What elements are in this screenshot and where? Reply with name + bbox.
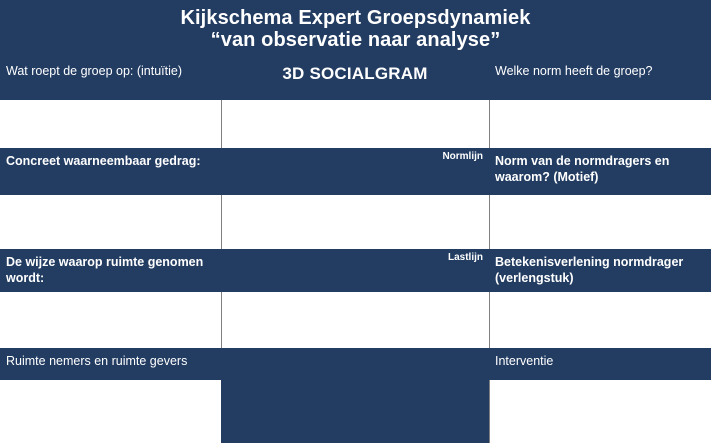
row-4-left-input-area[interactable] [0,380,221,443]
row-4-right-input-area[interactable] [490,380,711,443]
row-3-right-label: Betekenisverlening normdrager (verlengst… [495,254,705,286]
row-3-left-input-area[interactable] [0,292,221,348]
page-title-line-2: “van observatie naar analyse” [211,29,501,51]
row-2-center-header: Normlijn [221,148,489,195]
row-4-left-header: Ruimte nemers en ruimte gevers [0,348,221,380]
page-title-line-1: Kijkschema Expert Groepsdynamiek [180,7,530,29]
row-4-right-header: Interventie [489,348,711,380]
row-4-center-socialgram-area[interactable] [221,380,489,443]
row-1-left-header: Wat roept de groep op: (intuïtie) [0,58,221,100]
row-2-center-input-area[interactable] [222,195,489,249]
row-1-center-input-area[interactable] [222,100,489,148]
normlijn-tag: Normlijn [442,151,483,162]
row-1-right-label: Welke norm heeft de groep? [495,63,705,79]
row-4-right-label: Interventie [495,353,705,369]
row-3-center-input-area[interactable] [222,292,489,348]
row-1-right-header: Welke norm heeft de groep? [489,58,711,100]
row-1-right-input-area[interactable] [490,100,711,148]
row-2-right-input-area[interactable] [490,195,711,249]
row-2-left-input-area[interactable] [0,195,221,249]
row-3-right-input-area[interactable] [490,292,711,348]
row-2-left-header: Concreet waarneembaar gedrag: [0,148,221,195]
row-4-left-label: Ruimte nemers en ruimte gevers [6,353,215,369]
row-1-center-header: 3D SOCIALGRAM [221,58,489,100]
row-4-center-header [221,348,489,380]
row-3-left-label: De wijze waarop ruimte genomen wordt: [6,254,215,286]
socialgram-heading: 3D SOCIALGRAM [221,64,489,84]
row-2-left-label: Concreet waarneembaar gedrag: [6,153,215,169]
lastlijn-tag: Lastlijn [448,252,483,263]
row-1-left-input-area[interactable] [0,100,221,148]
row-1-left-label: Wat roept de groep op: (intuïtie) [6,63,215,79]
row-3-center-header: Lastlijn [221,249,489,292]
row-2-right-header: Norm van de normdragers en waarom? (Moti… [489,148,711,195]
row-3-right-header: Betekenisverlening normdrager (verlengst… [489,249,711,292]
document-title-band: Kijkschema Expert Groepsdynamiek “van ob… [0,0,711,58]
kijkschema-worksheet: Kijkschema Expert Groepsdynamiek “van ob… [0,0,711,443]
row-2-right-label: Norm van de normdragers en waarom? (Moti… [495,153,705,185]
row-3-left-header: De wijze waarop ruimte genomen wordt: [0,249,221,292]
